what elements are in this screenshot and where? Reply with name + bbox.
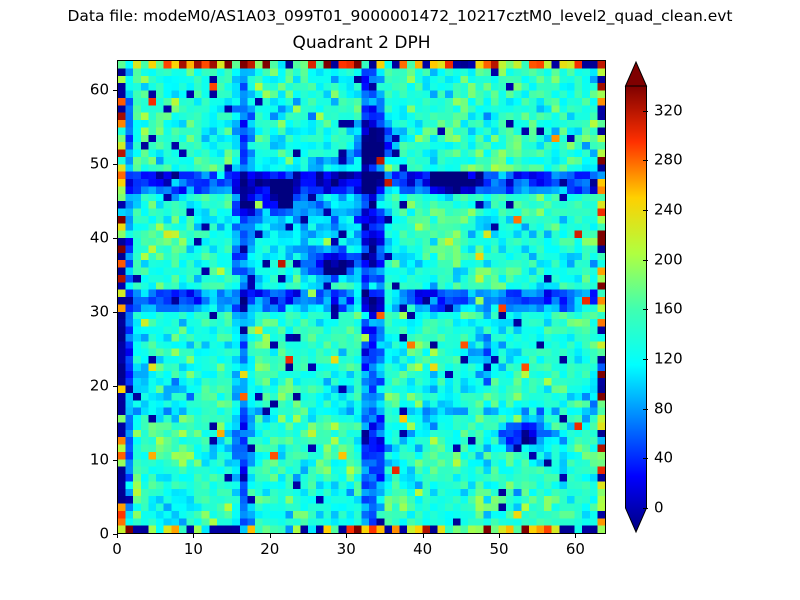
y-tick-label: 40 bbox=[90, 229, 109, 246]
y-tick-label: 10 bbox=[90, 451, 109, 468]
x-tick-mark bbox=[270, 534, 271, 538]
y-tick-mark bbox=[113, 386, 117, 387]
colorbar-tick-mark bbox=[643, 309, 648, 310]
y-tick-mark bbox=[113, 460, 117, 461]
colorbar-tick-label: 0 bbox=[654, 500, 664, 517]
colorbar-tick-mark bbox=[643, 458, 648, 459]
colorbar-tick-label: 120 bbox=[654, 351, 683, 368]
colorbar-tick-mark bbox=[643, 508, 648, 509]
x-tick-label: 0 bbox=[112, 541, 122, 558]
colorbar-tick-mark bbox=[643, 409, 648, 410]
data-file-label: Data file: modeM0/AS1A03_099T01_90000014… bbox=[0, 7, 800, 25]
y-tick-label: 20 bbox=[90, 377, 109, 394]
colorbar-tick-mark bbox=[643, 160, 648, 161]
colorbar-tick-mark bbox=[643, 260, 648, 261]
colorbar-tick-label: 40 bbox=[654, 450, 673, 467]
colorbar[interactable] bbox=[624, 60, 648, 534]
x-tick-mark bbox=[499, 534, 500, 538]
colorbar-tick-label: 80 bbox=[654, 400, 673, 417]
colorbar-gradient bbox=[624, 60, 648, 534]
y-tick-label: 0 bbox=[99, 526, 109, 543]
y-tick-mark bbox=[113, 238, 117, 239]
plot-title: Quadrant 2 DPH bbox=[117, 33, 606, 53]
x-tick-mark bbox=[423, 534, 424, 538]
y-tick-mark bbox=[113, 312, 117, 313]
colorbar-tick-mark bbox=[643, 210, 648, 211]
y-tick-label: 60 bbox=[90, 81, 109, 98]
x-tick-mark bbox=[193, 534, 194, 538]
heatmap-image[interactable] bbox=[118, 61, 605, 533]
x-tick-mark bbox=[117, 534, 118, 538]
y-tick-mark bbox=[113, 164, 117, 165]
colorbar-tick-label: 200 bbox=[654, 251, 683, 268]
heatmap-axes[interactable] bbox=[117, 60, 606, 534]
x-tick-mark bbox=[575, 534, 576, 538]
x-tick-label: 50 bbox=[489, 541, 508, 558]
x-tick-mark bbox=[346, 534, 347, 538]
colorbar-tick-label: 280 bbox=[654, 152, 683, 169]
colorbar-tick-label: 320 bbox=[654, 102, 683, 119]
figure-canvas: Data file: modeM0/AS1A03_099T01_90000014… bbox=[0, 0, 800, 600]
y-tick-label: 50 bbox=[90, 155, 109, 172]
y-tick-mark bbox=[113, 534, 117, 535]
x-tick-label: 20 bbox=[260, 541, 279, 558]
x-tick-label: 30 bbox=[337, 541, 356, 558]
y-tick-mark bbox=[113, 90, 117, 91]
colorbar-tick-mark bbox=[643, 359, 648, 360]
y-tick-label: 30 bbox=[90, 303, 109, 320]
x-tick-label: 10 bbox=[184, 541, 203, 558]
x-tick-label: 40 bbox=[413, 541, 432, 558]
colorbar-tick-mark bbox=[643, 111, 648, 112]
x-tick-label: 60 bbox=[566, 541, 585, 558]
colorbar-tick-label: 160 bbox=[654, 301, 683, 318]
colorbar-tick-label: 240 bbox=[654, 202, 683, 219]
